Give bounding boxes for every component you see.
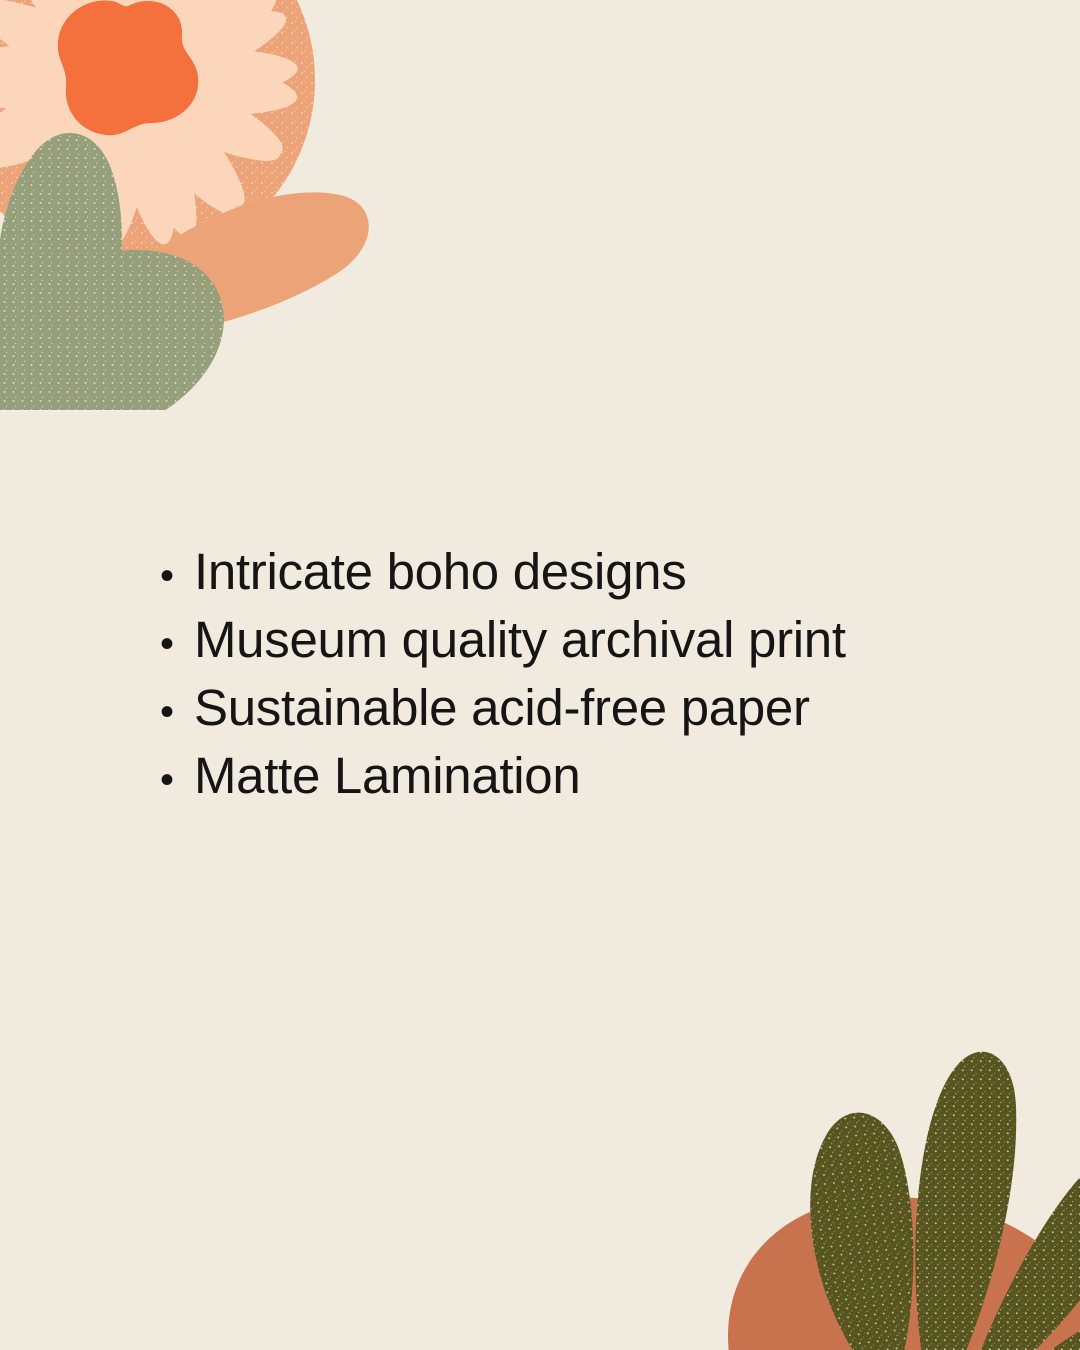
bullet-icon: • (152, 678, 194, 746)
bottom-right-decoration (700, 960, 1080, 1350)
olive-leaf-blade-right (968, 1147, 1080, 1350)
olive-leaf-blade-left (800, 1108, 929, 1350)
feature-label: Museum quality archival print (194, 606, 846, 674)
feature-list: • Intricate boho designs • Museum qualit… (152, 538, 1012, 810)
light-peach-petals (0, 0, 300, 251)
bullet-icon: • (152, 610, 194, 678)
olive-leaf-blades (800, 1052, 1080, 1350)
salmon-leaf-diagonal (94, 192, 369, 336)
feature-item: • Matte Lamination (152, 742, 1012, 810)
top-left-decoration (0, 0, 460, 410)
feature-item: • Intricate boho designs (152, 538, 1012, 606)
sage-green-leaf-upright (0, 133, 122, 428)
poster-canvas: • Intricate boho designs • Museum qualit… (0, 0, 1080, 1350)
feature-label: Matte Lamination (194, 742, 580, 810)
bullet-icon: • (152, 746, 194, 814)
olive-leaf-blade-far-right (1000, 1290, 1080, 1350)
feature-item: • Museum quality archival print (152, 606, 1012, 674)
salmon-flower-disc (0, 0, 315, 265)
feature-label: Intricate boho designs (194, 538, 686, 606)
feature-item: • Sustainable acid-free paper (152, 674, 1012, 742)
feature-label: Sustainable acid-free paper (194, 674, 810, 742)
bullet-icon: • (152, 542, 194, 610)
terracotta-blob (728, 1197, 1080, 1350)
sage-green-leaf-horizontal (0, 250, 224, 456)
olive-leaf-blade-center (915, 1052, 1016, 1350)
orange-flower-center (58, 0, 198, 135)
